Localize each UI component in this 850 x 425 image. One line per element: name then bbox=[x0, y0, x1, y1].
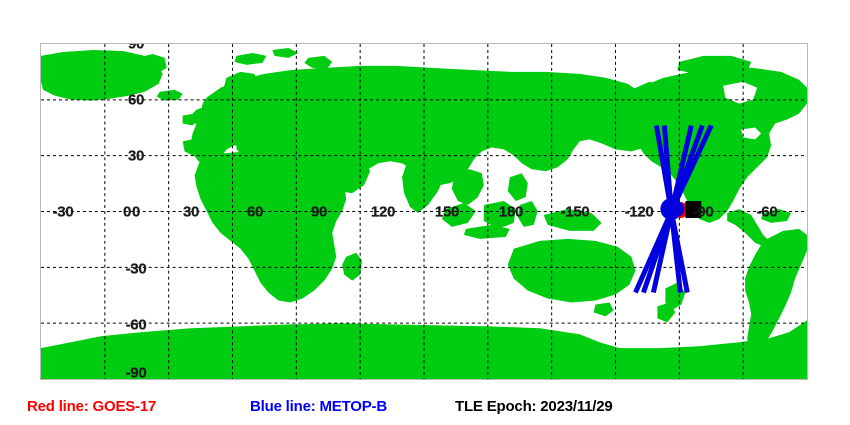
lon-tick-90w: -90 bbox=[693, 205, 714, 220]
lon-tick-90e: 90 bbox=[311, 205, 327, 220]
lon-tick-120w: -120 bbox=[625, 205, 654, 220]
lat-tick-90: 90 bbox=[128, 43, 144, 52]
map-legend: Red line: GOES-17 Blue line: METOP-B TLE… bbox=[0, 395, 850, 421]
lon-tick-60e: 60 bbox=[247, 205, 263, 220]
lon-tick-0: 0 bbox=[123, 205, 131, 220]
lat-tick-90s: -90 bbox=[126, 366, 147, 381]
lat-tick-60s: -60 bbox=[126, 318, 147, 333]
lon-tick-120e: 120 bbox=[371, 205, 395, 220]
lon-tick-150e: 150 bbox=[435, 205, 459, 220]
legend-blue-line-metopb: Blue line: METOP-B bbox=[250, 399, 387, 414]
lon-tick-150w: -150 bbox=[561, 205, 590, 220]
lat-tick-30s: -30 bbox=[126, 262, 147, 277]
lon-tick-30w: -30 bbox=[53, 205, 74, 220]
lat-tick-0: 0 bbox=[132, 205, 140, 220]
lat-tick-60: 60 bbox=[128, 93, 144, 108]
legend-red-line-goes17: Red line: GOES-17 bbox=[27, 399, 156, 414]
lon-tick-180: 180 bbox=[499, 205, 523, 220]
lon-tick-30e: 30 bbox=[183, 205, 199, 220]
lon-tick-60w: -60 bbox=[757, 205, 778, 220]
legend-tle-epoch: TLE Epoch: 2023/11/29 bbox=[455, 399, 613, 414]
world-map-panel[interactable]: 90 60 30 0 -30 -60 -90 -30 0 30 60 90 12… bbox=[40, 43, 808, 380]
metop-b-marker-overlap bbox=[668, 201, 684, 217]
lat-tick-30: 30 bbox=[128, 149, 144, 164]
satellite-map-app: 90 60 30 0 -30 -60 -90 -30 0 30 60 90 12… bbox=[0, 0, 850, 425]
